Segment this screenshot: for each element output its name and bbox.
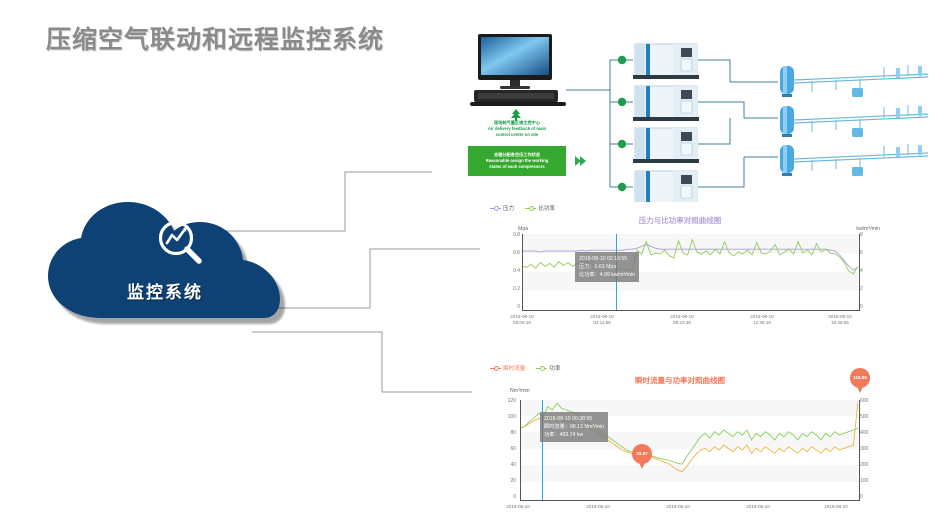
chart2-y2tick: 300 bbox=[860, 446, 880, 452]
connector-to-chart2 bbox=[252, 332, 472, 392]
legend-item-flow[interactable]: 瞬时流量 bbox=[490, 364, 525, 372]
chart2-ytick: 60 bbox=[498, 446, 516, 452]
chart2-xtick: 2018-08-10 bbox=[806, 504, 866, 510]
chart-flow-vs-power: 瞬时流量 功率 瞬时流量与功率对照曲线图 Nm³/min 120 100 80 … bbox=[480, 362, 880, 520]
magnifier-chart-icon bbox=[153, 216, 207, 270]
tooltip-row: 压力：0.63 Mpa bbox=[579, 263, 635, 271]
tooltip-timestamp: 2018-08-10 00:38:55 bbox=[544, 415, 604, 423]
chart2-y2tick: 500 bbox=[860, 414, 880, 420]
air-tank-distribution-group bbox=[778, 141, 930, 183]
chart2-y2-axis bbox=[859, 400, 860, 501]
chart2-y2tick: 200 bbox=[860, 462, 880, 468]
chart2-ytick: 120 bbox=[498, 398, 516, 404]
legend-item-specific-power[interactable]: 比功率 bbox=[525, 204, 555, 212]
chart1-plot-area bbox=[522, 234, 858, 310]
compressor-unit bbox=[633, 126, 699, 164]
legend-item-pressure[interactable]: 压力 bbox=[490, 204, 514, 212]
chart1-y2tick: 6 bbox=[860, 250, 880, 256]
chart2-y-unit: Nm³/min bbox=[510, 388, 530, 394]
chart2-ytick: 0 bbox=[498, 494, 516, 500]
chart1-ytick: 0.8 bbox=[502, 232, 520, 238]
chart2-xtick: 2018-08-10 bbox=[728, 504, 788, 510]
tooltip-timestamp: 2018-08-10 02:19:55 bbox=[579, 255, 635, 263]
chart2-legend: 瞬时流量 功率 bbox=[490, 364, 561, 372]
chart1-x-axis bbox=[522, 310, 860, 311]
chart2-ytick: 80 bbox=[498, 430, 516, 436]
chart2-xtick: 2018-08-10 bbox=[648, 504, 708, 510]
slide-canvas: 压缩空气联动和远程监控系统 监控系统 bbox=[0, 0, 945, 529]
cloud-label: 监控系统 bbox=[40, 278, 290, 303]
chart1-y2tick: 4 bbox=[860, 268, 880, 274]
chart2-marker-pin[interactable]: 118.55 bbox=[850, 368, 870, 394]
chart1-ytick: 0.2 bbox=[502, 286, 520, 292]
chart2-ytick: 100 bbox=[498, 414, 516, 420]
chart1-xtick: 2018-08-10 12:35:15 bbox=[732, 314, 792, 326]
legend-swatch-icon bbox=[490, 366, 501, 371]
legend-swatch-icon bbox=[490, 206, 501, 211]
chart1-series-paths bbox=[522, 234, 858, 310]
compressor-unit bbox=[633, 42, 699, 80]
air-tank-distribution-group bbox=[778, 62, 930, 104]
chart2-tooltip: 2018-08-10 00:38:55 瞬时流量：98.13 Nm³/min 功… bbox=[540, 412, 608, 442]
legend-label: 瞬时流量 bbox=[503, 364, 525, 372]
chart1-xtick: 2018-08-10 04:11:55 bbox=[572, 314, 632, 326]
chart2-ytick: 40 bbox=[498, 462, 516, 468]
chart1-xtick: 2018-08-10 16:46:55 bbox=[810, 314, 870, 326]
series-line bbox=[522, 240, 858, 274]
chart1-ytick: 0 bbox=[502, 304, 520, 310]
legend-label: 功率 bbox=[549, 364, 560, 372]
chart1-y2-axis bbox=[859, 234, 860, 311]
chart-pressure-vs-specific-power: 压力 比功率 压力与比功率对照曲线图 Mpa kw/m³/min 0.8 0.6… bbox=[480, 202, 880, 337]
air-tank-distribution-group bbox=[778, 102, 930, 144]
chart2-y-axis bbox=[520, 400, 521, 501]
chart2-y2tick: 400 bbox=[860, 430, 880, 436]
chart1-xtick: 2018-08-10 08:23:35 bbox=[652, 314, 712, 326]
chart1-title: 压力与比功率对照曲线图 bbox=[480, 215, 880, 226]
chart1-y2tick: 8 bbox=[860, 232, 880, 238]
chart1-y2tick: 2 bbox=[860, 286, 880, 292]
legend-swatch-icon bbox=[536, 366, 547, 371]
chart2-ytick: 20 bbox=[498, 478, 516, 484]
legend-item-power[interactable]: 功率 bbox=[536, 364, 560, 372]
chart1-y2tick: 0 bbox=[860, 304, 880, 310]
chart2-y2tick: 600 bbox=[860, 398, 880, 404]
chart1-y-axis bbox=[522, 234, 523, 311]
topology-diagram: 现场耗气量反馈主控中心 Air delivery feedback of mai… bbox=[448, 22, 938, 200]
chart2-xtick: 2018-08-10 bbox=[568, 504, 628, 510]
legend-label: 压力 bbox=[503, 204, 514, 212]
chart2-xtick: 2018-08-10 bbox=[488, 504, 548, 510]
chart1-ytick: 0.4 bbox=[502, 268, 520, 274]
chart1-ytick: 0.6 bbox=[502, 250, 520, 256]
chart2-y2tick: 0 bbox=[860, 494, 880, 500]
chart2-x-axis bbox=[520, 500, 860, 501]
tooltip-row: 功率：493.74 kw bbox=[544, 431, 604, 439]
chart2-marker-pin[interactable]: 33.87 bbox=[632, 444, 652, 470]
chart2-y2tick: 100 bbox=[860, 478, 880, 484]
chart1-legend: 压力 比功率 bbox=[490, 204, 555, 212]
legend-label: 比功率 bbox=[538, 204, 555, 212]
chart1-tooltip: 2018-08-10 02:19:55 压力：0.63 Mpa 比功率：4.99… bbox=[575, 252, 639, 282]
tooltip-row: 比功率：4.99 kw/m³/min bbox=[579, 271, 635, 279]
compressor-unit bbox=[633, 84, 699, 122]
tooltip-row: 瞬时流量：98.13 Nm³/min bbox=[544, 423, 604, 431]
legend-swatch-icon bbox=[525, 206, 536, 211]
monitoring-cloud[interactable]: 监控系统 bbox=[40, 200, 290, 325]
chart2-title: 瞬时流量与功率对照曲线图 bbox=[480, 375, 880, 386]
chart1-xtick: 2018-08-10 00:00:15 bbox=[492, 314, 552, 326]
pin-label: 33.87 bbox=[632, 451, 652, 456]
pin-label: 118.55 bbox=[850, 375, 870, 380]
